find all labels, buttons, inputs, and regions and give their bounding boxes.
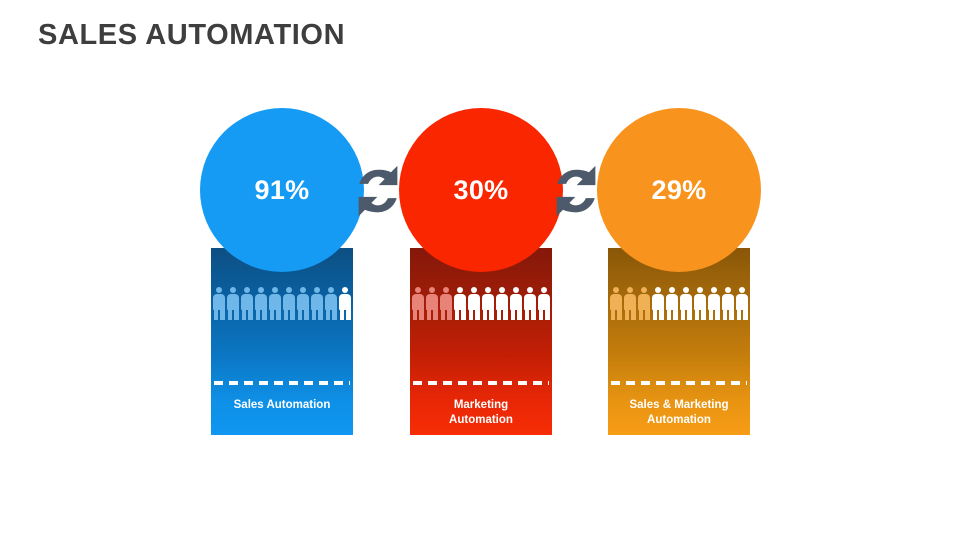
person-icon	[735, 287, 749, 320]
person-icon	[523, 287, 537, 320]
person-icon	[509, 287, 523, 320]
person-icon	[495, 287, 509, 320]
person-icon	[721, 287, 735, 320]
sync-arrows-icon	[347, 160, 409, 222]
person-icon	[679, 287, 693, 320]
chart-column-marketing-automation[interactable]: Marketing Automation 30%	[399, 108, 563, 438]
percent-value: 30%	[454, 175, 509, 206]
bar-label-line2: Automation	[449, 413, 513, 428]
person-icon	[453, 287, 467, 320]
person-icon	[310, 287, 324, 320]
bar-label-line2: Automation	[647, 413, 711, 428]
sync-arrows-icon	[545, 160, 607, 222]
person-icon	[268, 287, 282, 320]
person-icon	[296, 287, 310, 320]
person-icon	[254, 287, 268, 320]
bar-label-line1: Marketing	[454, 398, 508, 413]
person-icon	[467, 287, 481, 320]
bar-label-sales-marketing-automation: Sales & Marketing Automation	[608, 398, 750, 438]
person-icon	[707, 287, 721, 320]
percent-value: 29%	[652, 175, 707, 206]
person-icon	[240, 287, 254, 320]
dashed-divider	[214, 381, 350, 385]
percent-circle-sales-automation[interactable]: 91%	[200, 108, 364, 272]
pictogram-people-marketing-automation	[410, 286, 552, 320]
bar-label-marketing-automation: Marketing Automation	[410, 398, 552, 438]
person-icon	[665, 287, 679, 320]
bar-label-line1: Sales & Marketing	[629, 398, 728, 413]
page-title: SALES AUTOMATION	[38, 19, 345, 52]
person-icon	[481, 287, 495, 320]
slide-canvas: SALES AUTOMATION Sales Automation 91% Ma…	[0, 0, 960, 540]
pictogram-people-sales-marketing-automation	[608, 286, 750, 320]
person-icon	[439, 287, 453, 320]
person-icon	[609, 287, 623, 320]
bar-label-sales-automation: Sales Automation	[211, 398, 353, 438]
bar-label-line1: Sales Automation	[234, 398, 331, 413]
person-icon	[282, 287, 296, 320]
person-icon	[693, 287, 707, 320]
person-icon	[411, 287, 425, 320]
dashed-divider	[413, 381, 549, 385]
percent-value: 91%	[255, 175, 310, 206]
person-icon	[226, 287, 240, 320]
percent-circle-marketing-automation[interactable]: 30%	[399, 108, 563, 272]
chart-column-sales-automation[interactable]: Sales Automation 91%	[200, 108, 364, 438]
person-icon	[425, 287, 439, 320]
person-icon	[637, 287, 651, 320]
person-icon	[623, 287, 637, 320]
pictogram-people-sales-automation	[211, 286, 353, 320]
person-icon	[324, 287, 338, 320]
dashed-divider	[611, 381, 747, 385]
person-icon	[651, 287, 665, 320]
chart-column-sales-marketing-automation[interactable]: Sales & Marketing Automation 29%	[597, 108, 761, 438]
person-icon	[338, 287, 352, 320]
person-icon	[212, 287, 226, 320]
percent-circle-sales-marketing-automation[interactable]: 29%	[597, 108, 761, 272]
person-icon	[537, 287, 551, 320]
